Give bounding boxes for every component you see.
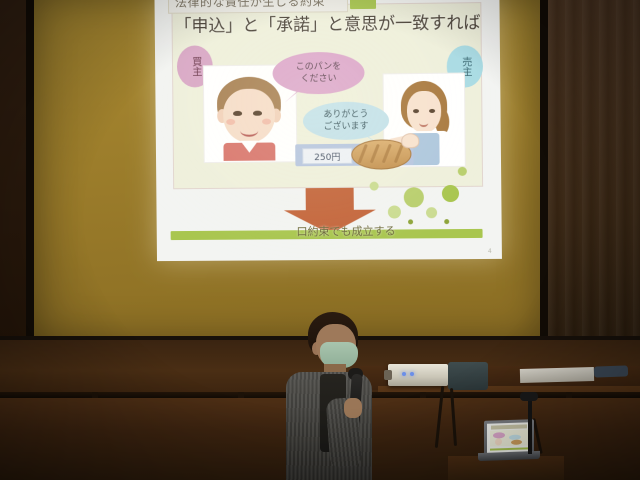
curtain-right-panel [548, 0, 640, 352]
slide-top-banner-text: 法律的な責任が生じる約束 [175, 0, 325, 11]
papers-on-table [520, 367, 594, 383]
seller-hand [401, 133, 419, 148]
projector-led-2 [410, 372, 414, 376]
badge-buyer-label: 買主 [190, 56, 200, 76]
buyer-cheek-left [226, 119, 235, 125]
seller-speech-line-1: ありがとう [323, 108, 368, 121]
presenter [272, 312, 384, 480]
laptop-slide-green-bar [490, 447, 528, 450]
buyer-eye-right [253, 111, 262, 116]
price-tag: 250円 [302, 148, 352, 164]
projected-slide: 「申込」と「承諾」と意思が一致すれば 買主 売主 [154, 0, 501, 261]
buyer-mouth [240, 125, 258, 137]
buyer-eye-left [233, 111, 242, 116]
slide-page-number: 4 [488, 248, 492, 255]
slide-content: 「申込」と「承諾」と意思が一致すれば 買主 売主 [154, 0, 501, 261]
projector-lens [384, 370, 392, 380]
slide-top-banner-chip [350, 0, 376, 9]
buyer-illustration [211, 72, 288, 161]
photo-canvas: 「申込」と「承諾」と意思が一致すれば 買主 売主 [0, 0, 640, 480]
arrow-stem [306, 188, 354, 212]
projector-device [388, 364, 448, 386]
decor-dot-3 [388, 205, 401, 218]
seller-speech-line-2: ございます [323, 121, 368, 134]
laptop-screen [487, 422, 531, 454]
bread-illustration [351, 133, 413, 170]
presenter-hand [344, 398, 362, 418]
seller-eye-right [429, 109, 435, 113]
slide-top-banner: 法律的な責任が生じる約束 [168, 0, 348, 14]
equipment-bag [448, 362, 488, 390]
decor-dot-4 [426, 207, 437, 218]
buyer-cheek-right [262, 119, 271, 125]
decor-dot-2 [442, 185, 459, 202]
folded-cloth-item [594, 365, 628, 377]
decor-dot-1 [404, 187, 424, 207]
buyer-speech-line-1: このパンを [296, 61, 342, 74]
slide-bottom-text: 口約束でも成立する [266, 222, 426, 239]
seller-eye-left [413, 109, 419, 113]
seller-mouth [419, 119, 428, 127]
microphone-stand [528, 398, 532, 454]
microphone-stand-head [520, 392, 538, 401]
decor-dot-8 [444, 219, 449, 224]
projector-led-1 [402, 372, 406, 376]
buyer-speech-line-2: ください [300, 73, 336, 86]
decor-dot-5 [458, 167, 467, 176]
